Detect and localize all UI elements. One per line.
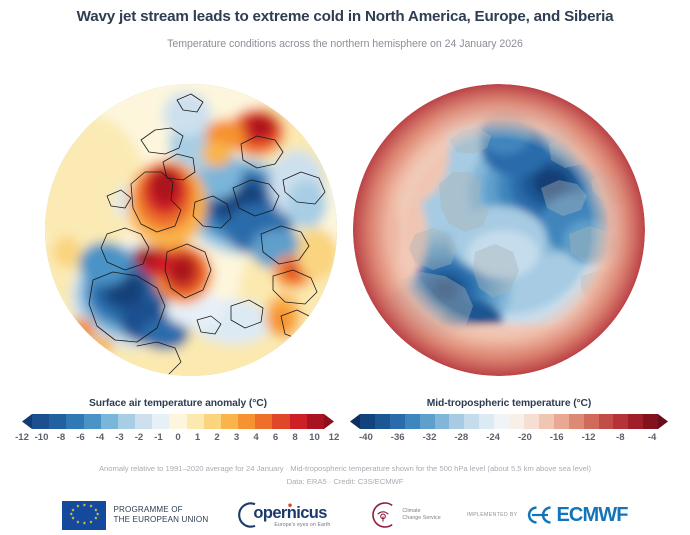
map-surface-air-temperature-anomaly <box>45 84 337 376</box>
colorbar-left-strip <box>32 414 324 429</box>
eu-star-icon: ★ <box>82 504 86 509</box>
colorbar-swatch <box>599 414 614 429</box>
colorbar-tick-label: 4 <box>253 432 258 443</box>
colorbar-tick-label: -20 <box>518 432 532 443</box>
eu-text-line1: PROGRAMME OF <box>113 505 208 515</box>
colorbar-swatch <box>118 414 135 429</box>
eu-star-icon: ★ <box>71 508 75 513</box>
colorbar-tick-label: 3 <box>234 432 239 443</box>
colorbar-swatch <box>509 414 524 429</box>
c3s-text-line2: Change Service <box>402 515 440 522</box>
colorbar-swatch <box>360 414 375 429</box>
colorbar-right-under-cap <box>350 414 360 429</box>
page-subtitle: Temperature conditions across the northe… <box>0 38 690 50</box>
colorbar-tick-label: -8 <box>57 432 66 443</box>
colorbar-swatch <box>238 414 255 429</box>
colorbar-swatch <box>405 414 420 429</box>
ecmwf-wordmark: ECMWF <box>556 504 627 527</box>
mid-troposphere-field <box>353 84 645 376</box>
colorbar-swatch <box>375 414 390 429</box>
colorbar-mid-troposphere: Mid-tropospheric temperature (°C) -40-36… <box>350 398 668 446</box>
colorbar-swatch <box>187 414 204 429</box>
colorbar-swatch <box>152 414 169 429</box>
eu-star-icon: ★ <box>94 517 98 522</box>
colorbar-left-over-cap <box>324 414 334 429</box>
eu-flag-icon: ★★★★★★★★★★★★ <box>62 501 106 530</box>
climate-infographic: Wavy jet stream leads to extreme cold in… <box>0 0 690 535</box>
eu-star-icon: ★ <box>89 520 93 525</box>
eu-text-line2: THE EUROPEAN UNION <box>113 515 208 525</box>
colorbar-swatch <box>613 414 628 429</box>
colorbar-swatch <box>569 414 584 429</box>
colorbar-left-under-cap <box>22 414 32 429</box>
logo-bar: ★★★★★★★★★★★★ PROGRAMME OF THE EUROPEAN U… <box>0 497 690 533</box>
eu-star-icon: ★ <box>69 513 73 518</box>
colorbar-tick-label: -8 <box>616 432 625 443</box>
colorbar-swatch <box>643 414 658 429</box>
colorbar-left-title: Surface air temperature anomaly (°C) <box>22 398 334 409</box>
colorbar-swatch <box>32 414 49 429</box>
colorbar-tick-label: -16 <box>550 432 564 443</box>
colorbar-swatch <box>494 414 509 429</box>
copernicus-wordmark: opernicus <box>253 504 326 523</box>
colorbar-swatch <box>204 414 221 429</box>
colorbar-swatch <box>169 414 186 429</box>
colorbar-tick-label: -3 <box>115 432 124 443</box>
colorbar-left-row <box>22 414 334 429</box>
colorbar-right-ticks: -40-36-32-28-24-20-16-12-8-4 <box>350 432 668 446</box>
colorbar-right-over-cap <box>658 414 668 429</box>
colorbar-swatch <box>479 414 494 429</box>
colorbar-tick-label: 1 <box>195 432 200 443</box>
colorbar-tick-label: -4 <box>96 432 105 443</box>
colorbar-swatch <box>584 414 599 429</box>
copernicus-mark: opernicus Europe's eyes on Earth <box>234 500 342 530</box>
c3s-circle-icon <box>368 500 398 530</box>
colorbar-tick-label: 6 <box>273 432 278 443</box>
globe-left <box>45 84 337 376</box>
eu-star-icon: ★ <box>76 505 80 510</box>
colorbar-tick-label: 0 <box>175 432 180 443</box>
c3s-logo: Climate Change Service <box>368 500 440 530</box>
colorbar-swatch <box>49 414 66 429</box>
colorbar-tick-label: -4 <box>648 432 657 443</box>
colorbar-tick-label: -10 <box>35 432 49 443</box>
colorbar-tick-label: -40 <box>359 432 373 443</box>
eu-star-icon: ★ <box>76 520 80 525</box>
colorbar-left-ticks: -12-10-8-6-4-3-2-101234681012 <box>22 432 334 446</box>
colorbar-swatch <box>628 414 643 429</box>
implemented-by-label: IMPLEMENTED BY <box>467 512 518 518</box>
colorbar-swatch <box>524 414 539 429</box>
colorbar-swatch <box>101 414 118 429</box>
colorbar-tick-label: 2 <box>214 432 219 443</box>
colorbar-tick-label: -32 <box>423 432 437 443</box>
colorbar-swatch <box>554 414 569 429</box>
colorbar-right-strip <box>360 414 658 429</box>
colorbar-swatch <box>135 414 152 429</box>
colorbar-swatch <box>84 414 101 429</box>
colorbar-swatch <box>66 414 83 429</box>
colorbar-swatch <box>390 414 405 429</box>
c3s-text-line1: Climate <box>402 508 440 515</box>
globe-right <box>353 84 645 376</box>
copernicus-logo: opernicus Europe's eyes on Earth <box>234 500 342 530</box>
colorbar-swatch <box>435 414 450 429</box>
colorbar-swatch <box>539 414 554 429</box>
c3s-logo-text: Climate Change Service <box>402 508 440 522</box>
colorbar-tick-label: -1 <box>154 432 163 443</box>
footnote-method: Anomaly relative to 1991–2020 average fo… <box>0 464 690 473</box>
colorbar-swatch <box>449 414 464 429</box>
map-mid-tropospheric-temperature <box>353 84 645 376</box>
colorbar-swatch <box>307 414 324 429</box>
colorbar-tick-label: -2 <box>135 432 144 443</box>
colorbar-tick-label: -12 <box>582 432 596 443</box>
colorbar-tick-label: 12 <box>329 432 340 443</box>
ecmwf-logo: IMPLEMENTED BY ECMWF <box>467 504 628 527</box>
colorbar-right-row <box>350 414 668 429</box>
colorbar-right-title: Mid-tropospheric temperature (°C) <box>350 398 668 409</box>
colorbar-tick-label: -24 <box>486 432 500 443</box>
eu-logo-text: PROGRAMME OF THE EUROPEAN UNION <box>113 505 208 525</box>
colorbar-surface-anomaly: Surface air temperature anomaly (°C) -12… <box>22 398 334 446</box>
ecmwf-swirl-icon <box>523 505 553 525</box>
eu-star-icon: ★ <box>89 505 93 510</box>
colorbar-tick-label: -6 <box>76 432 85 443</box>
colorbar-swatch <box>464 414 479 429</box>
colorbar-tick-label: -28 <box>454 432 468 443</box>
colorbar-swatch <box>255 414 272 429</box>
page-title: Wavy jet stream leads to extreme cold in… <box>0 8 690 25</box>
colorbar-tick-label: -36 <box>391 432 405 443</box>
colorbar-swatch <box>272 414 289 429</box>
colorbar-tick-label: 8 <box>292 432 297 443</box>
eu-logo: ★★★★★★★★★★★★ PROGRAMME OF THE EUROPEAN U… <box>62 501 208 530</box>
colorbar-swatch <box>221 414 238 429</box>
eu-star-icon: ★ <box>71 517 75 522</box>
copernicus-tagline: Europe's eyes on Earth <box>274 522 330 528</box>
footnote-credit: Data: ERA5 · Credit: C3S/ECMWF <box>0 477 690 486</box>
colorbar-swatch <box>420 414 435 429</box>
anomaly-field <box>45 84 337 376</box>
colorbar-swatch <box>290 414 307 429</box>
colorbar-tick-label: -12 <box>15 432 29 443</box>
eu-star-icon: ★ <box>82 521 86 526</box>
colorbar-tick-label: 10 <box>309 432 320 443</box>
